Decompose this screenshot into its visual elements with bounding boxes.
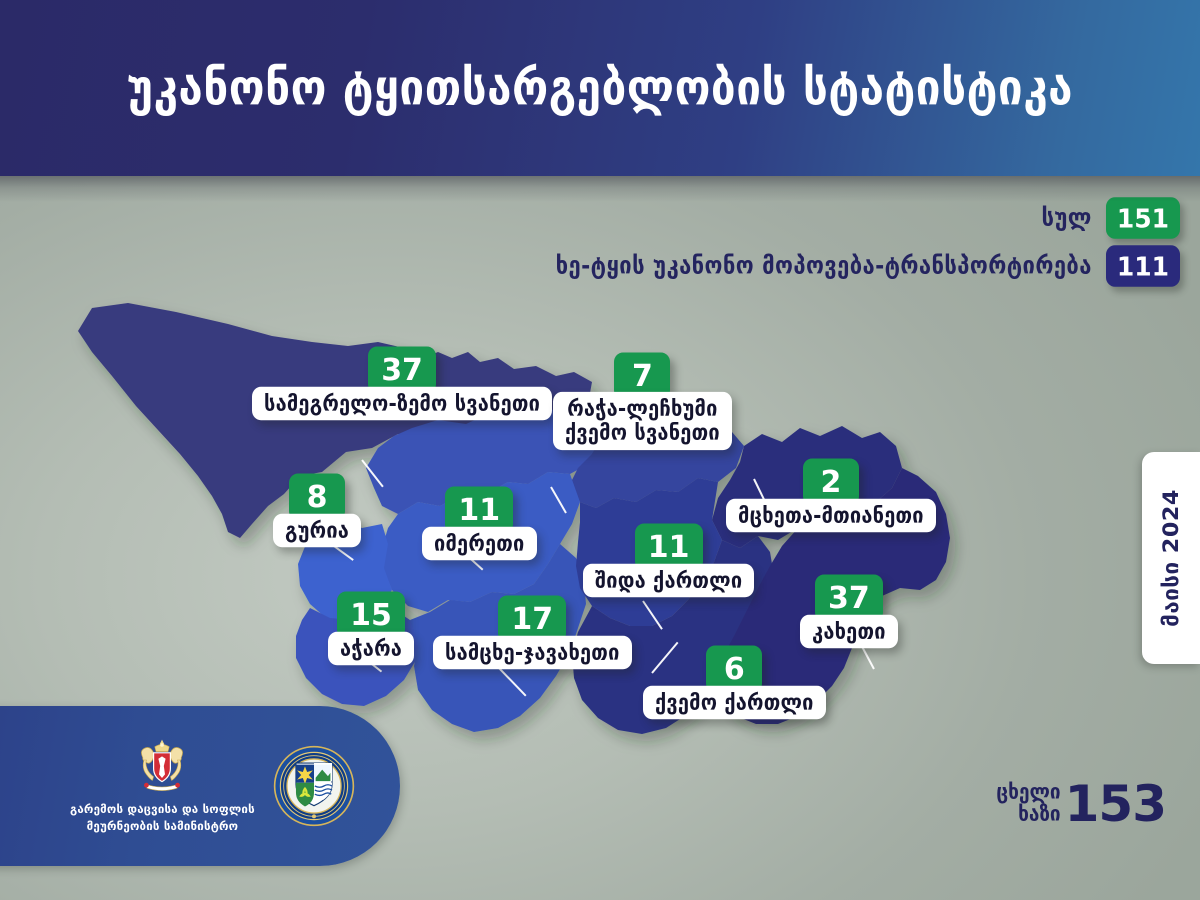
date-tab: მაისი 2024 (1142, 452, 1200, 664)
region-marker-samtskhe-javakheti[interactable]: 17 სამცხე-ჯავახეთი (433, 596, 632, 668)
stat-transport: ხე-ტყის უკანონო მოპოვება-ტრანსპორტირება … (556, 246, 1180, 286)
stat-total: სულ 151 (1041, 198, 1180, 238)
region-label: ქვემო ქართლი (643, 686, 826, 720)
page-title: უკანონო ტყითსარგებლობის სტატისტიკა (127, 59, 1073, 116)
header-banner: უკანონო ტყითსარგებლობის სტატისტიკა (0, 0, 1200, 176)
infographic-canvas: უკანონო ტყითსარგებლობის სტატისტიკა სულ 1… (0, 0, 1200, 900)
ministry-name: გარემოს დაცვისა და სოფლის მეურნეობის სამ… (70, 801, 255, 834)
date-label: მაისი 2024 (1159, 489, 1183, 627)
region-label: იმერეთი (422, 527, 537, 561)
region-label: რაჭა-ლეჩხუმი ქვემო სვანეთი (553, 392, 732, 450)
region-marker-shida-kartli[interactable]: 11 შიდა ქართლი (583, 524, 754, 596)
hotline-number: 153 (1065, 780, 1166, 828)
stat-transport-label: ხე-ტყის უკანონო მოპოვება-ტრანსპორტირება (556, 252, 1092, 280)
stat-total-badge: 151 (1106, 197, 1180, 239)
region-label: გურია (273, 514, 361, 548)
header-shadow (0, 176, 1200, 202)
region-label: შიდა ქართლი (583, 564, 754, 598)
region-marker-mtskheta-mtianeti[interactable]: 2 მცხეთა-მთიანეთი (726, 459, 936, 531)
region-marker-kvemo-kartli[interactable]: 6 ქვემო ქართლი (643, 646, 826, 718)
hotline-block: ცხელი ხაზი 153 (996, 780, 1166, 828)
stat-transport-badge: 111 (1106, 245, 1180, 287)
region-marker-imereti[interactable]: 11 იმერეთი (422, 487, 537, 559)
region-label: სამცხე-ჯავახეთი (433, 636, 632, 670)
region-marker-samegrelo-zemo-svaneti[interactable]: 37 სამეგრელო-ზემო სვანეთი (252, 347, 552, 419)
environmental-supervision-seal-icon (273, 745, 355, 827)
region-marker-kakheti[interactable]: 37 კახეთი (800, 575, 898, 647)
footer-bar: გარემოს დაცვისა და სოფლის მეურნეობის სამ… (0, 706, 400, 866)
region-marker-guria[interactable]: 8 გურია (273, 474, 361, 546)
hotline-label: ცხელი ხაზი (996, 782, 1060, 825)
region-label: აჭარა (328, 632, 414, 666)
stat-total-label: სულ (1041, 204, 1091, 232)
georgia-coat-of-arms-icon (132, 737, 192, 795)
region-marker-racha-lechkhumi[interactable]: 7 რაჭა-ლეჩხუმი ქვემო სვანეთი (553, 353, 732, 448)
region-label: მცხეთა-მთიანეთი (726, 499, 936, 533)
region-label: სამეგრელო-ზემო სვანეთი (252, 387, 552, 421)
ministry-block: გარემოს დაცვისა და სოფლის მეურნეობის სამ… (70, 737, 255, 834)
region-marker-adjara[interactable]: 15 აჭარა (328, 592, 414, 664)
region-label: კახეთი (800, 615, 898, 649)
